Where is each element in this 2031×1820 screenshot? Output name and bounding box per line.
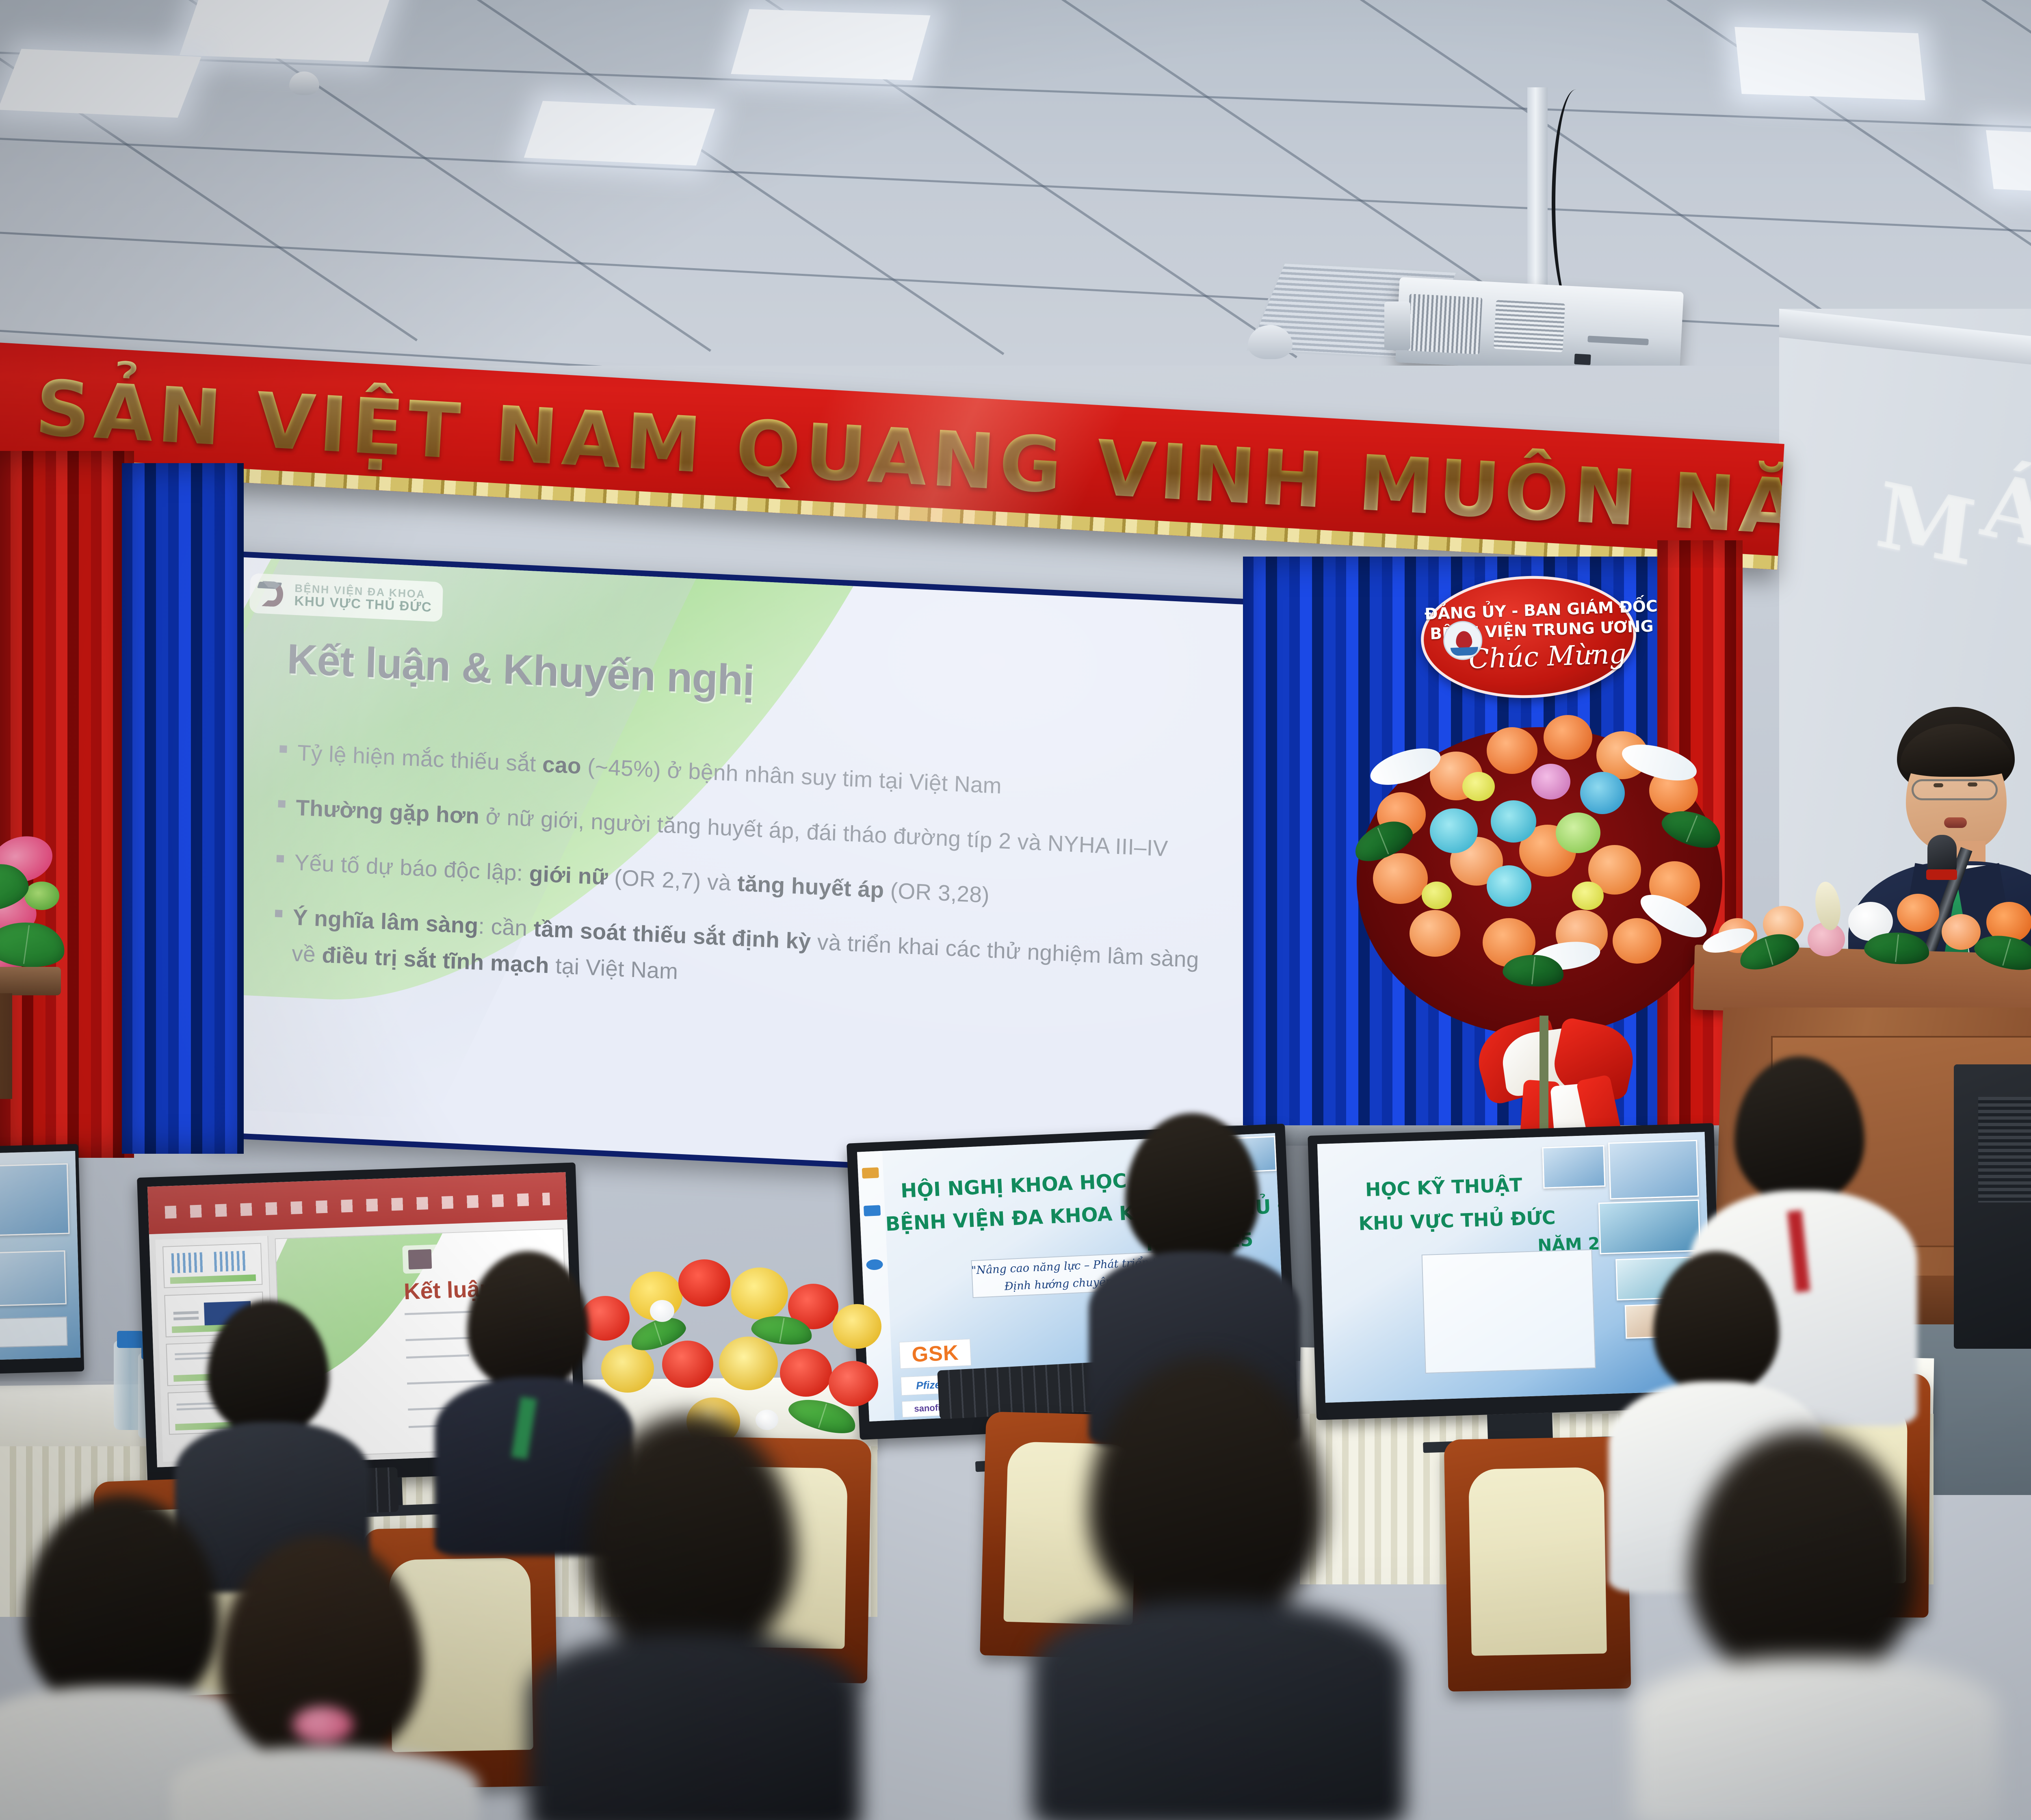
bullet-square-icon <box>275 910 282 918</box>
slide-bullet-text: Yếu tố dự báo độc lập: giới nữ (OR 2,7) … <box>294 845 990 914</box>
smoke-detector <box>289 71 319 95</box>
bullet-square-icon <box>278 800 285 808</box>
conference-title-right-line2: KHU VỰC THỦ ĐỨC <box>1358 1207 1556 1235</box>
hair-tie <box>292 1706 353 1743</box>
conference-title-right-line1: HỌC KỸ THUẬT <box>1365 1174 1522 1201</box>
lotus-flower-stand <box>0 821 118 1032</box>
projector-mount-pole <box>1527 87 1548 315</box>
ceiling <box>0 0 2031 422</box>
blue-curtain-left <box>122 463 244 1154</box>
wall-ghost-letter: M <box>1871 461 1981 587</box>
conference-photo-scene: M Á I Ấ M Y Đ NG SẢN VIỆT NAM QUANG VINH… <box>0 0 2031 1820</box>
ceiling-light-panel <box>1986 130 2031 197</box>
sponsor-logo-gsk: GSK <box>899 1339 972 1369</box>
ceiling-light-panel <box>0 49 201 117</box>
speaker-cabinet <box>1978 1097 2031 1202</box>
red-curtain-left <box>0 451 134 1158</box>
audience-person-foreground <box>154 1536 479 1820</box>
ceiling-light-panel <box>524 101 715 165</box>
projection-screen: BỆNH VIỆN ĐA KHOA KHU VỰC THỦ ĐỨC Kết lu… <box>203 550 1271 1187</box>
wreath-sign-script: Chúc Mừng <box>1468 638 1627 675</box>
audience-person-foreground <box>512 1414 861 1820</box>
audience-person-foreground <box>1007 1357 1405 1820</box>
projector-lens <box>1384 301 1410 350</box>
podium-flower-arrangement <box>1694 865 2031 983</box>
projector-cable <box>1552 89 1600 317</box>
audience-person-foreground <box>1600 1430 1999 1820</box>
bullet-square-icon <box>279 745 287 753</box>
slide-surface: BỆNH VIỆN ĐA KHOA KHU VỰC THỦ ĐỨC Kết lu… <box>209 557 1265 1181</box>
slide-bullet-list: Tỷ lệ hiện mắc thiếu sắt cao (~45%) ở bệ… <box>273 734 1205 1033</box>
ceiling-light-panel <box>731 9 930 80</box>
ceiling-projector <box>1395 277 1684 377</box>
hospital-monogram-icon <box>255 577 288 611</box>
speaker-glasses <box>1912 779 1998 800</box>
bullet-square-icon <box>277 855 284 863</box>
wooden-stand <box>0 967 61 995</box>
ceiling-light-panel <box>180 0 393 62</box>
ceiling-light-panel <box>1734 27 1925 100</box>
monitor-far-left[interactable] <box>0 1144 84 1375</box>
